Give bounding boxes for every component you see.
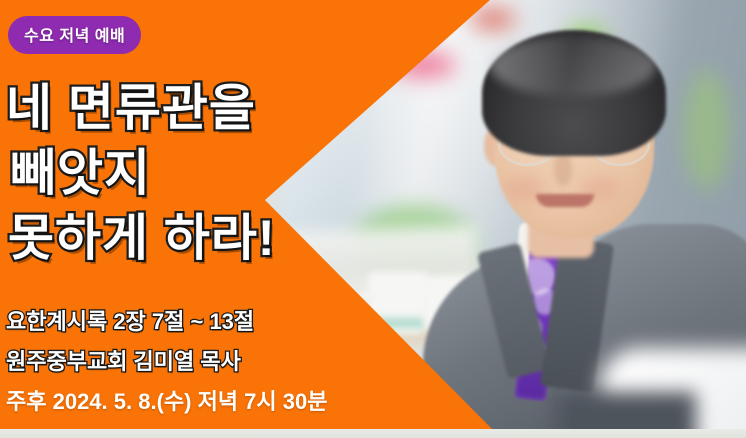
scripture-reference: 요한계시록 2장 7절 ~ 13절 xyxy=(6,302,327,342)
sermon-thumbnail: 수요 저녁 예배 네 면류관을 빼앗지 못하게 하라! 요한계시록 2장 7절 … xyxy=(0,0,746,438)
poster-content: 수요 저녁 예배 네 면류관을 빼앗지 못하게 하라! 요한계시록 2장 7절 … xyxy=(0,0,746,438)
sermon-details: 요한계시록 2장 7절 ~ 13절 원주중부교회 김미열 목사 주후 2024.… xyxy=(6,302,327,422)
service-datetime: 주후 2024. 5. 8.(수) 저녁 7시 30분 xyxy=(6,382,327,422)
title-line-2: 빼앗지 xyxy=(6,141,476,206)
bottom-edge-strip xyxy=(0,429,746,438)
title-line-3: 못하게 하라! xyxy=(6,206,476,271)
sermon-title: 네 면류관을 빼앗지 못하게 하라! xyxy=(6,76,476,271)
service-type-badge: 수요 저녁 예배 xyxy=(8,16,141,54)
title-line-1: 네 면류관을 xyxy=(6,76,476,141)
speaker-name: 원주중부교회 김미열 목사 xyxy=(6,342,327,382)
